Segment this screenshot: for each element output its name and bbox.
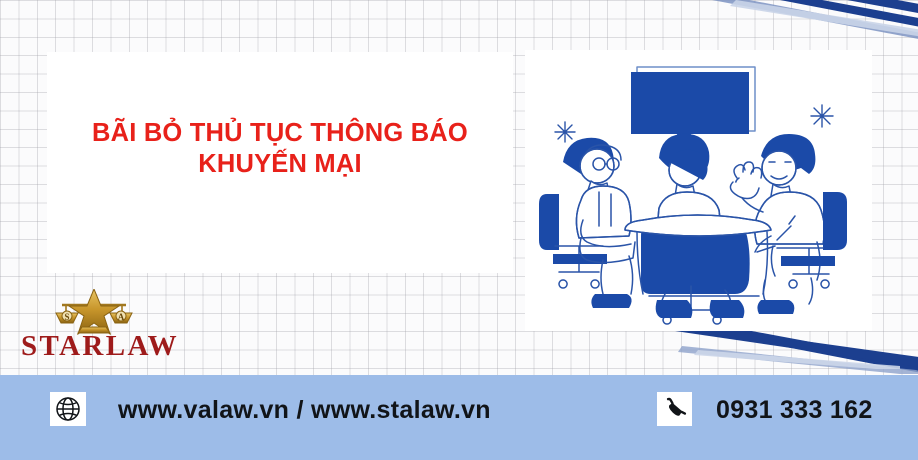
star-scales-svg: S A xyxy=(48,289,140,335)
headline-line-1: BÃI BỎ THỦ TỤC THÔNG BÁO xyxy=(92,119,468,147)
phone-number-text[interactable]: 0931 333 162 xyxy=(716,396,873,425)
starlaw-logo: S A STARLAW xyxy=(14,289,186,367)
page-title: BÃI BỎ THỦ TỤC THÔNG BÁO KHUYẾN MẠI xyxy=(47,118,513,180)
phone-icon-svg xyxy=(663,397,687,421)
scale-right-letter: A xyxy=(118,312,125,322)
scale-left-letter: S xyxy=(64,312,69,322)
globe-icon xyxy=(50,392,86,426)
promo-banner: BÃI BỎ THỦ TỤC THÔNG BÁO KHUYẾN MẠI xyxy=(0,0,918,460)
phone-icon xyxy=(657,392,692,426)
headline-line-2: KHUYẾN MẠI xyxy=(47,149,513,180)
meeting-illustration-svg xyxy=(525,50,872,331)
website-text[interactable]: www.valaw.vn / www.stalaw.vn xyxy=(118,396,491,425)
decorative-stripes-top-right xyxy=(640,0,918,56)
meeting-illustration xyxy=(525,50,872,331)
sparkle-icon-right xyxy=(811,105,833,127)
star-scales-icon: S A xyxy=(48,289,140,335)
logo-wordmark: STARLAW xyxy=(14,330,186,363)
sparkle-icon-left xyxy=(555,122,575,142)
stripes-top-svg xyxy=(640,0,918,56)
globe-icon-svg xyxy=(55,396,81,422)
